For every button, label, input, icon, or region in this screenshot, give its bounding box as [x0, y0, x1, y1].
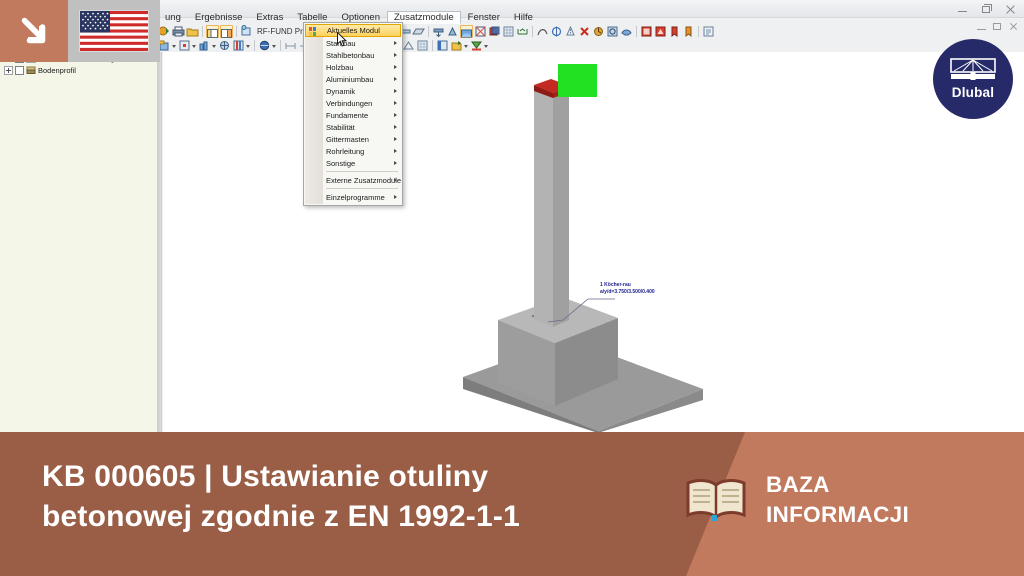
chevron-right-icon — [394, 77, 397, 81]
menu-option-label: Stahlbetonbau — [326, 51, 374, 60]
application-window: ung Ergebnisse Extras Tabelle Optionen Z… — [0, 0, 1024, 433]
toolbar-icon-export[interactable] — [450, 39, 463, 52]
toolbar-separator — [696, 25, 701, 38]
zusatzmodule-dropdown-menu[interactable]: Aktuelles Modul Stahlbau Stahlbetonbau H… — [303, 22, 403, 206]
toolbar-icon-wireframe[interactable] — [474, 25, 487, 38]
toolbar-separator — [634, 25, 639, 38]
annotation-line-1: 1 Köcher-rau — [600, 282, 655, 289]
banner-title-line-2: betonowej zgodnie z EN 1992-1-1 — [42, 497, 642, 537]
toolbar-icon-curve[interactable] — [536, 25, 549, 38]
arrow-down-right-icon — [19, 16, 49, 46]
navigator-tree-panel[interactable]: Fundamentabmessungen Bodenprofil — [0, 52, 158, 433]
chevron-right-icon — [394, 101, 397, 105]
open-book-icon — [686, 477, 746, 523]
menu-option-fundamente[interactable]: Fundamente — [304, 109, 402, 121]
toolbar-separator — [426, 25, 431, 38]
chevron-right-icon — [394, 125, 397, 129]
menu-option-label: Sonstige — [326, 159, 355, 168]
tree-item-label: Bodenprofil — [38, 66, 76, 75]
dlubal-wordmark: Dlubal — [952, 85, 994, 100]
menu-option-label: Aktuelles Modul — [327, 26, 380, 35]
toolbar-separator — [530, 25, 535, 38]
menu-option-stahlbetonbau[interactable]: Stahlbetonbau — [304, 49, 402, 61]
soil-profile-icon — [26, 65, 36, 75]
menu-item-fenster[interactable]: Fenster — [461, 11, 507, 24]
chevron-right-icon — [394, 137, 397, 141]
toolbar-icon-zoom-window[interactable] — [606, 25, 619, 38]
toolbar-icon-open-folder[interactable] — [186, 25, 199, 38]
expander-icon[interactable] — [4, 66, 13, 75]
toolbar-dropdown-caret[interactable] — [484, 39, 489, 52]
toolbar-icon-help-topics[interactable] — [702, 25, 715, 38]
tree-checkbox[interactable] — [15, 66, 24, 75]
toolbar-dropdown-caret[interactable] — [192, 39, 197, 52]
toolbar-icon-render-globe[interactable] — [218, 39, 231, 52]
toolbar-icon-dimension[interactable] — [284, 39, 297, 52]
menu-separator — [326, 188, 398, 189]
toolbar-icon-surface[interactable] — [412, 25, 425, 38]
panel-splitter[interactable] — [158, 52, 162, 433]
chevron-right-icon — [394, 53, 397, 57]
toolbar-icon-pan[interactable] — [620, 25, 633, 38]
toolbar-icon-surface-result[interactable] — [402, 39, 415, 52]
bottom-banner: KB 000605 | Ustawianie otuliny betonowej… — [0, 432, 1024, 576]
toolbar-icon-grid[interactable] — [502, 25, 515, 38]
menu-item-hilfe[interactable]: Hilfe — [507, 11, 540, 24]
menu-item-ung[interactable]: ung — [158, 11, 188, 24]
menu-option-stabilitaet[interactable]: Stabilität — [304, 121, 402, 133]
toolbar-separator — [278, 39, 283, 52]
toolbar-icon-bookmark-red[interactable] — [668, 25, 681, 38]
menu-option-dynamik[interactable]: Dynamik — [304, 85, 402, 97]
menu-option-label: Stabilität — [326, 123, 355, 132]
toolbar-icon-circle[interactable] — [550, 25, 563, 38]
chevron-right-icon — [394, 89, 397, 93]
chevron-right-icon — [394, 149, 397, 153]
chevron-right-icon — [394, 161, 397, 165]
menu-option-holzbau[interactable]: Holzbau — [304, 61, 402, 73]
menu-option-label: Verbindungen — [326, 99, 372, 108]
language-flag-badge — [68, 0, 160, 62]
dlubal-logo-badge: Dlubal — [933, 39, 1013, 119]
knowledge-base-text: BAZA INFORMACJI — [766, 470, 909, 529]
toolbar-primary: RF-FUND Pro FA1 - Beme — [158, 24, 715, 39]
toolbar-separator — [252, 39, 257, 52]
toolbar-icon-color-picker[interactable] — [470, 39, 483, 52]
knowledge-base-label: BAZA INFORMACJI — [686, 470, 909, 529]
toolbar-dropdown-caret[interactable] — [172, 39, 177, 52]
menu-option-label: Externe Zusatzmodule — [326, 176, 401, 185]
menu-option-label: Dynamik — [326, 87, 355, 96]
toolbar-dropdown-caret[interactable] — [246, 39, 251, 52]
menu-option-label: Aluminiumbau — [326, 75, 374, 84]
menu-option-einzelprogramme[interactable]: Einzelprogramme — [304, 191, 402, 203]
chevron-right-icon — [394, 195, 397, 199]
mouse-cursor-icon — [337, 32, 348, 48]
direction-badge — [0, 0, 68, 62]
toolbar-icon-result-diagram-1[interactable] — [640, 25, 653, 38]
toolbar-icon-show-panel-right[interactable] — [220, 25, 233, 38]
toolbar-icon-render-view[interactable] — [460, 25, 473, 38]
toolbar-icon-bookmark-orange[interactable] — [682, 25, 695, 38]
toolbar-icon-measure[interactable] — [516, 25, 529, 38]
menu-option-label: Einzelprogramme — [326, 193, 385, 202]
menu-option-verbindungen[interactable]: Verbindungen — [304, 97, 402, 109]
toolbar-separator — [430, 39, 435, 52]
us-flag-icon — [80, 11, 148, 51]
menu-option-externe-zusatzmodule[interactable]: Externe Zusatzmodule — [304, 174, 402, 186]
dlubal-bridge-logo — [950, 58, 996, 83]
menu-option-label: Rohrleitung — [326, 147, 364, 156]
chevron-right-icon — [394, 178, 397, 182]
menu-option-aluminiumbau[interactable]: Aluminiumbau — [304, 73, 402, 85]
toolbar-icon-rotate[interactable] — [592, 25, 605, 38]
toolbar-icon-solid-view[interactable] — [488, 25, 501, 38]
toolbar-icon-node-snap[interactable] — [178, 39, 191, 52]
toolbar-icon-symmetry[interactable] — [564, 25, 577, 38]
chevron-right-icon — [394, 65, 397, 69]
banner-title: KB 000605 | Ustawianie otuliny betonowej… — [42, 457, 642, 537]
toolbar-icon-printout-report[interactable] — [436, 39, 449, 52]
menu-item-ergebnisse[interactable]: Ergebnisse — [188, 11, 250, 24]
menu-option-label: Gittermasten — [326, 135, 369, 144]
kb-label-line-2: INFORMACJI — [766, 500, 909, 530]
toolbar-icon-delete[interactable] — [578, 25, 591, 38]
banner-title-line-1: KB 000605 | Ustawianie otuliny — [42, 457, 642, 497]
chevron-right-icon — [394, 113, 397, 117]
tree-item-bodenprofil[interactable]: Bodenprofil — [0, 64, 157, 76]
model-annotation: 1 Köcher-rau a/y/d=3.750/3.500/0.400 — [600, 282, 655, 297]
toolbar-separator — [200, 25, 205, 38]
toolbar-icon-printer[interactable] — [172, 25, 185, 38]
menu-option-gittermasten[interactable]: Gittermasten — [304, 133, 402, 145]
toolbar-dropdown-caret[interactable] — [272, 39, 277, 52]
menu-option-label: Holzbau — [326, 63, 354, 72]
menu-separator — [326, 171, 398, 172]
toolbar-dropdown-caret[interactable] — [464, 39, 469, 52]
annotation-line-2: a/y/d=3.750/3.500/0.400 — [600, 289, 655, 296]
toolbar-dropdown-caret[interactable] — [212, 39, 217, 52]
model-viewport[interactable]: 1 Köcher-rau a/y/d=3.750/3.500/0.400 — [163, 52, 1024, 433]
toolbar-icon-support[interactable] — [446, 25, 459, 38]
menu-item-extras[interactable]: Extras — [249, 11, 290, 24]
toolbar-icon-grid-table[interactable] — [416, 39, 429, 52]
toolbar-icon-member[interactable] — [198, 39, 211, 52]
kb-label-line-1: BAZA — [766, 470, 909, 500]
menu-option-rohrleitung[interactable]: Rohrleitung — [304, 145, 402, 157]
toolbar-icon-show-panel-left[interactable] — [206, 25, 219, 38]
screen-root: ung Ergebnisse Extras Tabelle Optionen Z… — [0, 0, 1024, 576]
pocket-foundation-3d-model — [163, 52, 1024, 433]
toolbar-icon-section[interactable] — [232, 39, 245, 52]
toolbar-icon-load[interactable] — [432, 25, 445, 38]
menu-option-sonstige[interactable]: Sonstige — [304, 157, 402, 169]
menu-option-stahlbau[interactable]: Stahlbau — [304, 37, 402, 49]
chevron-right-icon — [394, 41, 397, 45]
toolbar-separator — [234, 25, 239, 38]
toolbar-icon-globe-view[interactable] — [258, 39, 271, 52]
toolbar-icon-result-diagram-2[interactable] — [654, 25, 667, 38]
toolbar-icon-run-module[interactable] — [240, 25, 253, 38]
current-module-icon — [309, 27, 319, 36]
menu-option-label: Fundamente — [326, 111, 368, 120]
menu-option-aktuelles-modul[interactable]: Aktuelles Modul — [305, 24, 401, 37]
